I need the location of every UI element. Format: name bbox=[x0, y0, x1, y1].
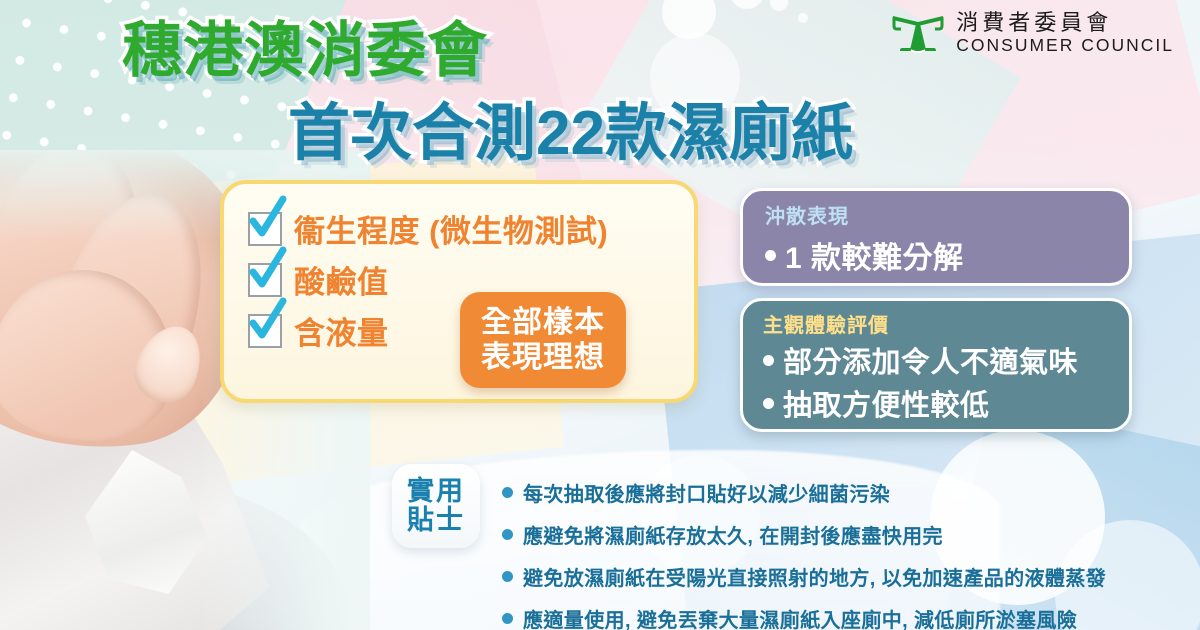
subjective-evaluation-card: 主觀體驗評價 部分添加令人不適氣味 抽取方便性較低 bbox=[740, 298, 1132, 432]
subjective-bullet: 抽取方便性較低 bbox=[783, 382, 990, 424]
tip-text: 應適量使用, 避免丟棄大量濕廁紙入座廁中, 減低廁所淤塞風險 bbox=[523, 604, 1077, 630]
bullet-dot-icon bbox=[763, 398, 774, 409]
badge-line-1: 全部樣本 bbox=[481, 305, 605, 340]
practical-tips-list: 每次抽取後應將封口貼好以減少細菌污染 應避免將濕廁紙存放太久, 在開封後應盡快用… bbox=[502, 478, 1106, 630]
dispersibility-card: 沖散表現 1 款較難分解 bbox=[740, 188, 1132, 286]
practical-tips-label: 實用 貼士 bbox=[392, 464, 480, 548]
list-item: 1 款較難分解 bbox=[765, 233, 1129, 277]
logo-name-english: CONSUMER COUNCIL bbox=[956, 37, 1174, 55]
checkbox-checked-icon bbox=[248, 263, 282, 297]
tip-text: 避免放濕廁紙在受陽光直接照射的地方, 以免加速產品的液體蒸發 bbox=[523, 562, 1106, 591]
balance-scale-icon bbox=[889, 8, 947, 58]
criteria-label: 衞生程度 (微生物測試) bbox=[294, 206, 608, 251]
bullet-dot-icon bbox=[502, 487, 513, 498]
bullet-dot-icon bbox=[502, 613, 513, 624]
bullet-dot-icon bbox=[502, 571, 513, 582]
test-criteria-card: 衞生程度 (微生物測試) 酸鹼值 含液量 全部樣本 表現理想 bbox=[220, 180, 698, 403]
tips-label-line-1: 實用 bbox=[407, 477, 465, 506]
list-item: 應適量使用, 避免丟棄大量濕廁紙入座廁中, 減低廁所淤塞風險 bbox=[502, 604, 1106, 630]
list-item: 部分添加令人不適氣味 bbox=[763, 339, 1129, 381]
poster-title-main: 穗港澳消委會 bbox=[122, 2, 488, 89]
all-samples-ideal-badge: 全部樣本 表現理想 bbox=[460, 292, 626, 388]
subjective-bullet: 部分添加令人不適氣味 bbox=[783, 339, 1078, 381]
tip-text: 每次抽取後應將封口貼好以減少細菌污染 bbox=[523, 478, 890, 507]
bullet-dot-icon bbox=[763, 355, 774, 366]
list-item: 應避免將濕廁紙存放太久, 在開封後應盡快用完 bbox=[502, 520, 1106, 549]
checkbox-checked-icon bbox=[248, 212, 282, 246]
consumer-council-logo: 消費者委員會 CONSUMER COUNCIL bbox=[889, 8, 1174, 58]
list-item: 每次抽取後應將封口貼好以減少細菌污染 bbox=[502, 478, 1106, 507]
tips-label-line-2: 貼士 bbox=[407, 506, 465, 535]
list-item: 衞生程度 (微生物測試) bbox=[248, 206, 608, 251]
criteria-label: 酸鹼值 bbox=[294, 257, 389, 302]
bullet-dot-icon bbox=[502, 529, 513, 540]
bullet-dot-icon bbox=[765, 250, 776, 261]
logo-name-chinese: 消費者委員會 bbox=[956, 12, 1174, 34]
poster-title-sub: 首次合測22款濕廁紙 bbox=[288, 82, 853, 172]
badge-line-2: 表現理想 bbox=[481, 340, 605, 375]
subjective-heading: 主觀體驗評價 bbox=[763, 309, 1129, 338]
dispersibility-heading: 沖散表現 bbox=[765, 200, 1129, 229]
list-item: 避免放濕廁紙在受陽光直接照射的地方, 以免加速產品的液體蒸發 bbox=[502, 562, 1106, 591]
dispersibility-bullet: 1 款較難分解 bbox=[785, 233, 964, 277]
infographic-poster: 消費者委員會 CONSUMER COUNCIL 穗港澳消委會 首次合測22款濕廁… bbox=[0, 0, 1200, 630]
criteria-label: 含液量 bbox=[294, 308, 389, 353]
list-item: 抽取方便性較低 bbox=[763, 382, 1129, 424]
tip-text: 應避免將濕廁紙存放太久, 在開封後應盡快用完 bbox=[523, 520, 943, 549]
checkbox-checked-icon bbox=[248, 314, 282, 348]
logo-wordmark: 消費者委員會 CONSUMER COUNCIL bbox=[956, 12, 1174, 55]
